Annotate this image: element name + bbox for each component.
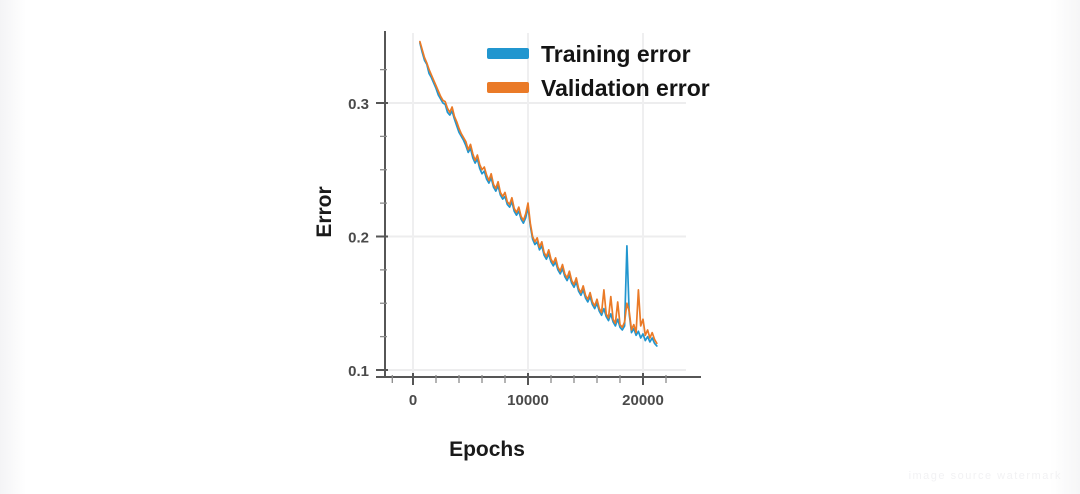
x-tick-label: 10000 (507, 392, 549, 409)
legend-swatch (487, 82, 529, 93)
ticks-layer (376, 70, 666, 385)
legend-label: Validation error (541, 75, 710, 101)
y-tick-label: 0.3 (348, 96, 369, 113)
watermark-text: image source watermark (909, 470, 1062, 482)
y-tick-label: 0.1 (348, 363, 369, 380)
chart-legend: Training errorValidation error (487, 41, 710, 101)
y-tick-label: 0.2 (348, 230, 369, 247)
y-axis-title: Error (313, 186, 336, 237)
error-vs-epochs-chart: 0.10.20.301000020000 Error Epochs Traini… (0, 0, 1080, 494)
tick-labels: 0.10.20.301000020000 (348, 96, 664, 409)
legend-label: Training error (541, 41, 691, 67)
x-tick-label: 0 (409, 392, 417, 409)
x-tick-label: 20000 (622, 392, 664, 409)
x-axis-title: Epochs (449, 438, 525, 461)
chart-screenshot: 0.10.20.301000020000 Error Epochs Traini… (0, 0, 1080, 494)
legend-swatch (487, 48, 529, 59)
